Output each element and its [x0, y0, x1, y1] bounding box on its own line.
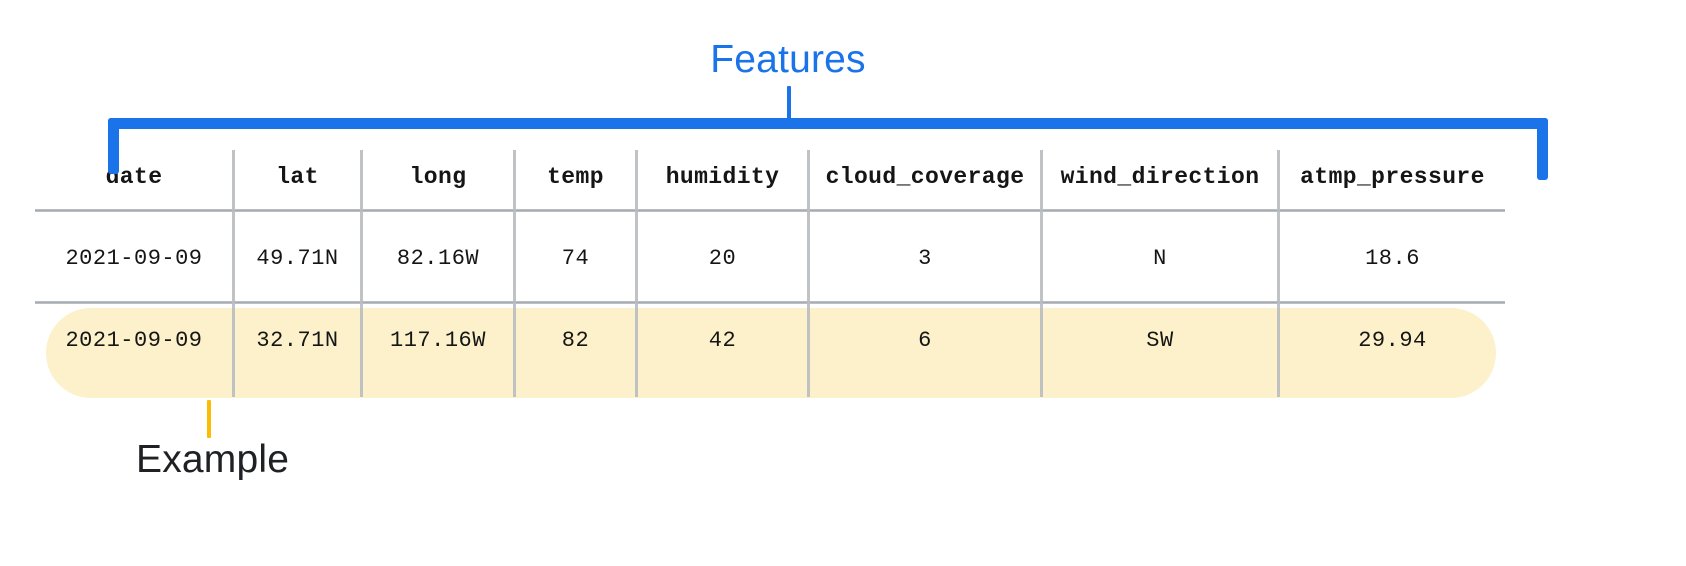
features-bracket-left-tick [108, 118, 119, 174]
header-separator-rule [35, 209, 1505, 212]
cell-row-2-date: 2021-09-09 [36, 324, 232, 358]
features-bracket-right-tick [1537, 118, 1548, 180]
features-annotation-text: Features [710, 38, 866, 81]
cell-row-1-lat: 49.71N [235, 242, 360, 276]
cell-row-2-cloud_coverage: 6 [810, 324, 1040, 358]
cell-row-1-atmp_pressure: 18.6 [1280, 242, 1505, 276]
cell-row-2-atmp_pressure: 29.94 [1280, 324, 1505, 358]
row-separator-rule [35, 301, 1505, 304]
example-annotation-label: Example [136, 436, 289, 484]
cell-row-1-long: 82.16W [363, 242, 513, 276]
cell-row-2-humidity: 42 [638, 324, 807, 358]
features-annotation-label: Features [0, 36, 1686, 84]
cell-row-1-humidity: 20 [638, 242, 807, 276]
features-bracket [104, 112, 1552, 182]
cell-row-2-long: 117.16W [363, 324, 513, 358]
features-bracket-bar [108, 118, 1548, 129]
features-connector-line [787, 86, 791, 122]
cell-row-2-wind_direction: SW [1043, 324, 1277, 358]
cell-row-1-date: 2021-09-09 [36, 242, 232, 276]
cell-row-1-cloud_coverage: 3 [810, 242, 1040, 276]
cell-row-2-lat: 32.71N [235, 324, 360, 358]
example-connector-line [207, 400, 211, 438]
cell-row-1-temp: 74 [516, 242, 635, 276]
cell-row-2-temp: 82 [516, 324, 635, 358]
annotated-table-figure: datelatlongtemphumiditycloud_coveragewin… [0, 0, 1686, 566]
cell-row-1-wind_direction: N [1043, 242, 1277, 276]
